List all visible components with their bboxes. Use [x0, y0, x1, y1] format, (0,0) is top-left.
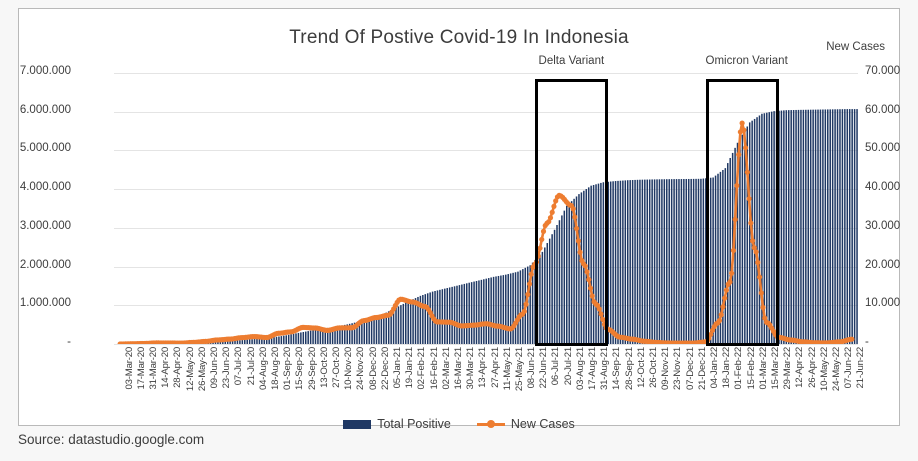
x-axis-tick-labels: 03-Mar-2017-Mar-2031-Mar-2014-Apr-2028-A… [114, 347, 858, 413]
x-axis-tick: 27-Apr-21 [490, 347, 501, 388]
x-axis-tick: 15-Feb-22 [746, 347, 757, 389]
x-axis-tick: 09-Nov-21 [660, 347, 671, 390]
legend-swatch-bar-icon [343, 420, 371, 429]
x-axis-tick: 08-Dec-20 [368, 347, 379, 390]
x-axis-tick: 16-Mar-21 [453, 347, 464, 389]
x-axis-tick: 15-Sep-20 [294, 347, 305, 390]
x-axis-tick: 21-Jul-20 [246, 347, 257, 385]
x-axis-tick: 17-Mar-20 [136, 347, 147, 389]
x-axis-tick: 12-May-20 [185, 347, 196, 391]
annotation-box-delta [535, 79, 608, 346]
x-axis-tick: 13-Apr-21 [477, 347, 488, 388]
x-axis-tick: 07-Jun-22 [843, 347, 854, 388]
legend-item-new-cases[interactable]: New Cases [477, 417, 575, 431]
x-axis-tick: 01-Sep-20 [282, 347, 293, 390]
x-axis-tick: 10-Nov-20 [343, 347, 354, 390]
x-axis-tick: 02-Mar-21 [441, 347, 452, 389]
x-axis-tick: 24-Nov-20 [355, 347, 366, 390]
x-axis-tick: 19-Jan-21 [404, 347, 415, 388]
x-axis-tick: 18-Aug-20 [270, 347, 281, 390]
x-axis-tick: 04-Aug-20 [258, 347, 269, 390]
x-axis-tick: 28-Sep-21 [624, 347, 635, 390]
chart-card: Trend Of Postive Covid-19 In Indonesia N… [18, 8, 900, 426]
x-axis-tick: 06-Jul-21 [550, 347, 561, 385]
x-axis-tick: 03-Mar-20 [124, 347, 135, 389]
x-axis-tick: 23-Jun-20 [221, 347, 232, 388]
legend-swatch-line-icon [477, 420, 505, 429]
x-axis-tick: 08-Jun-21 [526, 347, 537, 388]
x-axis-tick: 22-Jun-21 [538, 347, 549, 388]
x-axis-tick: 16-Feb-21 [429, 347, 440, 389]
x-axis-tick: 12-Apr-22 [794, 347, 805, 388]
x-axis-tick: 21-Jun-22 [855, 347, 866, 388]
x-axis-tick: 14-Apr-20 [160, 347, 171, 388]
x-axis-tick: 23-Nov-21 [672, 347, 683, 390]
legend-label-total-positive: Total Positive [377, 417, 451, 431]
x-axis-tick: 07-Dec-21 [685, 347, 696, 390]
annotation-label-omicron: Omicron Variant [706, 55, 779, 67]
x-axis-tick: 29-Mar-22 [782, 347, 793, 389]
x-axis-tick: 25-May-21 [514, 347, 525, 391]
x-axis-tick: 29-Sep-20 [307, 347, 318, 390]
annotation-label-delta: Delta Variant [535, 55, 608, 67]
x-axis-tick: 20-Jul-21 [563, 347, 574, 385]
x-axis-tick: 13-Oct-20 [319, 347, 330, 388]
x-axis-tick: 03-Aug-21 [575, 347, 586, 390]
x-axis-tick: 05-Jan-21 [392, 347, 403, 388]
legend-label-new-cases: New Cases [511, 417, 575, 431]
x-axis-tick: 12-Oct-21 [636, 347, 647, 388]
chart-legend: Total Positive New Cases [19, 417, 899, 431]
x-axis-tick: 30-Mar-21 [465, 347, 476, 389]
x-axis-tick: 26-Apr-22 [807, 347, 818, 388]
x-axis-tick: 01-Feb-22 [733, 347, 744, 389]
x-axis-tick: 31-Mar-20 [148, 347, 159, 389]
x-axis-tick: 02-Feb-21 [416, 347, 427, 389]
x-axis-tick: 24-May-22 [831, 347, 842, 391]
legend-item-total-positive[interactable]: Total Positive [343, 417, 451, 431]
x-axis-tick: 07-Jul-20 [233, 347, 244, 385]
x-axis-tick: 18-Jan-22 [721, 347, 732, 388]
x-axis-tick: 26-Oct-21 [648, 347, 659, 388]
x-axis-tick: 04-Jan-22 [709, 347, 720, 388]
x-axis-tick: 22-Dec-20 [380, 347, 391, 390]
x-axis-tick: 31-Aug-21 [599, 347, 610, 390]
x-axis-tick: 14-Sep-21 [611, 347, 622, 390]
x-axis-tick: 27-Oct-20 [331, 347, 342, 388]
x-axis-tick: 28-Apr-20 [172, 347, 183, 388]
page-root: Trend Of Postive Covid-19 In Indonesia N… [0, 0, 918, 461]
x-axis-tick: 21-Dec-21 [697, 347, 708, 390]
x-axis-tick: 11-May-21 [502, 347, 513, 390]
x-axis-tick: 17-Aug-21 [587, 347, 598, 390]
x-axis-tick: 26-May-20 [197, 347, 208, 391]
x-axis-tick: 01-Mar-22 [758, 347, 769, 389]
source-caption: Source: datastudio.google.com [18, 432, 204, 447]
x-axis-tick: 09-Jun-20 [209, 347, 220, 388]
x-axis-tick: 10-May-22 [819, 347, 830, 391]
annotation-box-omicron [706, 79, 779, 346]
x-axis-tick: 15-Mar-22 [770, 347, 781, 389]
